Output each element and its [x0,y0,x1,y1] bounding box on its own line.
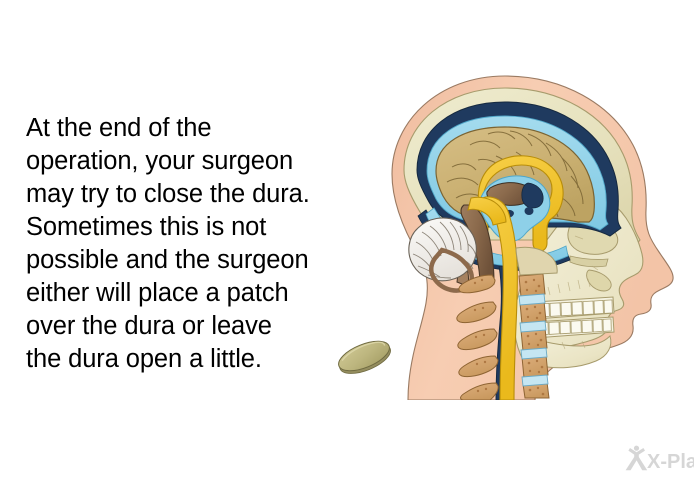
slide-canvas: At the end of the operation, your surgeo… [0,0,700,480]
caption-text: At the end of the operation, your surgeo… [26,112,356,376]
dural-patch [335,335,395,379]
logo-person-x-icon [626,446,648,471]
ventricle-dot-tiny [525,207,534,215]
logo-wordmark: X-Plain [647,451,694,472]
x-plain-logo[interactable]: X-Plain [622,444,694,472]
head-anatomy-illustration [330,70,700,400]
